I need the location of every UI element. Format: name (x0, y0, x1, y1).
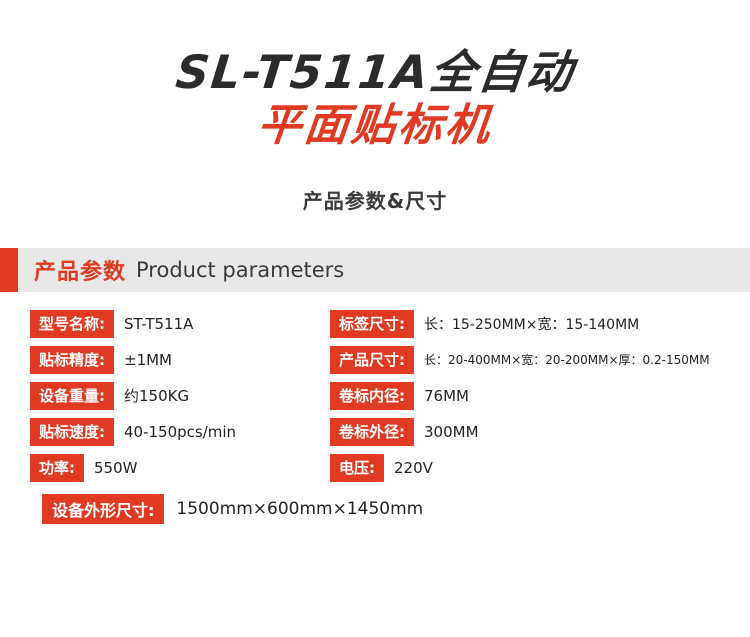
section-title-cn: 产品参数 (34, 254, 126, 286)
table-row: 贴标速度: 40-150pcs/min 卷标外径: 300MM (30, 418, 720, 446)
section-accent-block (0, 248, 18, 292)
spec-value: 长：15-250MM×宽：15-140MM (414, 310, 649, 338)
spec-label: 设备外形尺寸: (42, 494, 164, 524)
spec-label: 卷标内径: (330, 382, 414, 410)
spec-cell-right: 卷标内径: 76MM (330, 382, 720, 410)
spec-value: 550W (84, 454, 147, 482)
spec-cell-right: 产品尺寸: 长：20-400MM×宽：20-200MM×厚：0.2-150MM (330, 346, 720, 374)
spec-label: 型号名称: (30, 310, 114, 338)
spec-value: 40-150pcs/min (114, 418, 246, 446)
page-title-sub: 平面贴标机 (0, 102, 750, 150)
table-row: 设备重量: 约150KG 卷标内径: 76MM (30, 382, 720, 410)
page-title-main: SL-T511A全自动 (0, 48, 750, 96)
spec-value: 1500mm×600mm×1450mm (164, 494, 433, 524)
spec-cell-right: 标签尺寸: 长：15-250MM×宽：15-140MM (330, 310, 720, 338)
spec-cell-left: 功率: 550W (30, 454, 330, 482)
spec-value: 长：20-400MM×宽：20-200MM×厚：0.2-150MM (414, 346, 720, 374)
spec-label: 设备重量: (30, 382, 114, 410)
spec-cell-right: 卷标外径: 300MM (330, 418, 720, 446)
table-row-dimensions: 设备外形尺寸: 1500mm×600mm×1450mm (30, 494, 720, 524)
section-header-text: 产品参数 Product parameters (34, 248, 344, 292)
spec-value: 76MM (414, 382, 479, 410)
spec-cell-left: 贴标精度: ±1MM (30, 346, 330, 374)
page-title-caption: 产品参数&尺寸 (0, 185, 750, 214)
product-spec-page: SL-T511A全自动 平面贴标机 产品参数&尺寸 产品参数 Product p… (0, 48, 750, 637)
spec-label: 电压: (330, 454, 384, 482)
spec-label: 卷标外径: (330, 418, 414, 446)
spec-label: 标签尺寸: (330, 310, 414, 338)
table-row: 型号名称: ST-T511A 标签尺寸: 长：15-250MM×宽：15-140… (30, 310, 720, 338)
spec-value: ST-T511A (114, 310, 203, 338)
section-title-en: Product parameters (136, 258, 344, 282)
table-row: 功率: 550W 电压: 220V (30, 454, 720, 482)
spec-value: 约150KG (114, 382, 199, 410)
table-row: 贴标精度: ±1MM 产品尺寸: 长：20-400MM×宽：20-200MM×厚… (30, 346, 720, 374)
spec-label: 贴标速度: (30, 418, 114, 446)
spec-table: 型号名称: ST-T511A 标签尺寸: 长：15-250MM×宽：15-140… (30, 310, 720, 524)
spec-label: 产品尺寸: (330, 346, 414, 374)
spec-label: 功率: (30, 454, 84, 482)
spec-value: ±1MM (114, 346, 182, 374)
section-header-bar: 产品参数 Product parameters (0, 248, 750, 292)
spec-value: 220V (384, 454, 443, 482)
spec-cell-right: 电压: 220V (330, 454, 720, 482)
spec-cell-left: 贴标速度: 40-150pcs/min (30, 418, 330, 446)
spec-value: 300MM (414, 418, 489, 446)
spec-cell-left: 设备重量: 约150KG (30, 382, 330, 410)
spec-cell-left: 型号名称: ST-T511A (30, 310, 330, 338)
spec-label: 贴标精度: (30, 346, 114, 374)
